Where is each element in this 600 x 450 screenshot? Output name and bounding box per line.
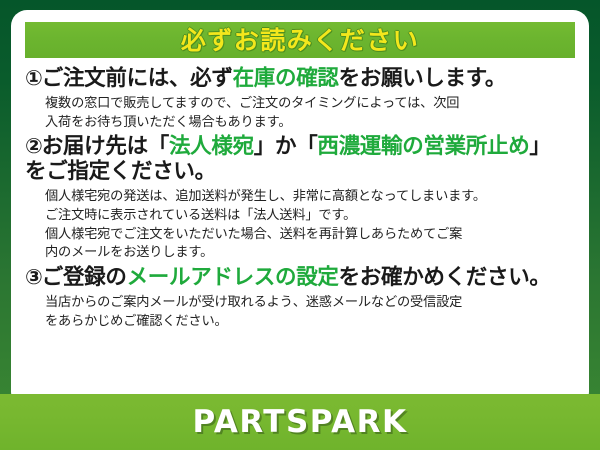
notice-poster: 必ずお読みください ①ご注文前には、必ず在庫の確認をお願いします。 複数の窓口で…: [0, 0, 600, 450]
notice-item-2-subtext-line-3: 個人様宅宛でご注文をいただいた場合、送料を再計算しあらためてご案: [45, 226, 577, 245]
notice-item-3: ③ご登録のメールアドレスの設定をお確かめください。 当店からのご案内メールが受け…: [25, 265, 577, 331]
notice-item-2: ②お届け先は「法人様宛」か「西濃運輸の営業所止め」をご指定ください。 個人様宅宛…: [25, 134, 577, 263]
notice-item-2-subtext-line-2: ご注文時に表示されている送料は「法人送料」です。: [45, 207, 577, 226]
notice-item-3-heading-highlight: メールアドレスの設定: [127, 265, 339, 290]
notice-item-2-subtext: 個人様宅宛の発送は、追加送料が発生し、非常に高額となってしまいます。 ご注文時に…: [25, 188, 577, 263]
notice-item-1-subtext-line-1: 複数の窓口で販売してますので、ご注文のタイミングによっては、次回: [45, 95, 577, 114]
notice-item-1-heading-part-2: をお願いします。: [339, 66, 506, 91]
notice-item-1-number: ①: [25, 66, 42, 90]
notice-item-1-subtext: 複数の窓口で販売してますので、ご注文のタイミングによっては、次回 入荷をお待ち頂…: [25, 95, 577, 132]
header-banner: 必ずお読みください: [25, 22, 575, 58]
notice-item-2-subtext-line-1: 個人様宅宛の発送は、追加送料が発生し、非常に高額となってしまいます。: [45, 188, 577, 207]
notice-item-2-heading-part-4: 」: [529, 134, 550, 159]
notice-item-3-heading: ③ご登録のメールアドレスの設定をお確かめください。: [25, 265, 577, 291]
brand-name: PARTSPARK: [192, 407, 407, 438]
banner-title: 必ずお読みください: [181, 28, 420, 53]
notice-item-3-heading-part-2: をお確かめください。: [339, 265, 551, 290]
footer-brand-band: PARTSPARK: [0, 394, 600, 450]
notice-item-1-heading: ①ご注文前には、必ず在庫の確認をお願いします。: [25, 66, 577, 92]
notice-item-2-subtext-line-4: 内のメールをお送りします。: [45, 244, 577, 263]
notice-item-2-heading-part-5: をご指定ください。: [25, 159, 216, 184]
notice-item-2-heading-part-2: 」か「: [254, 134, 318, 159]
notice-item-2-heading-highlight-1: 法人様宛: [169, 134, 254, 159]
notice-item-3-subtext-line-1: 当店からのご案内メールが受け取れるよう、迷惑メールなどの受信設定: [45, 294, 577, 313]
notice-item-3-number: ③: [25, 265, 42, 289]
white-panel: 必ずお読みください ①ご注文前には、必ず在庫の確認をお願いします。 複数の窓口で…: [11, 10, 589, 408]
notice-item-1: ①ご注文前には、必ず在庫の確認をお願いします。 複数の窓口で販売してますので、ご…: [25, 66, 577, 132]
notice-item-2-number: ②: [25, 134, 42, 158]
notice-item-1-heading-part-0: ご注文前には、必ず: [42, 66, 233, 91]
notice-item-3-heading-part-0: ご登録の: [42, 265, 127, 290]
notice-item-1-subtext-line-2: 入荷をお待ち頂いただく場合もあります。: [45, 114, 577, 133]
notice-item-2-heading-highlight-2: 西濃運輸の営業所止め: [317, 134, 529, 159]
notice-item-2-heading: ②お届け先は「法人様宛」か「西濃運輸の営業所止め」をご指定ください。: [25, 134, 577, 185]
notice-items-list: ①ご注文前には、必ず在庫の確認をお願いします。 複数の窓口で販売してますので、ご…: [11, 66, 589, 334]
notice-item-1-heading-highlight: 在庫の確認: [233, 66, 339, 91]
notice-item-3-subtext: 当店からのご案内メールが受け取れるよう、迷惑メールなどの受信設定 をあらかじめご…: [25, 294, 577, 331]
notice-item-3-subtext-line-2: をあらかじめご確認ください。: [45, 313, 577, 332]
notice-item-2-heading-part-0: お届け先は「: [42, 134, 169, 159]
